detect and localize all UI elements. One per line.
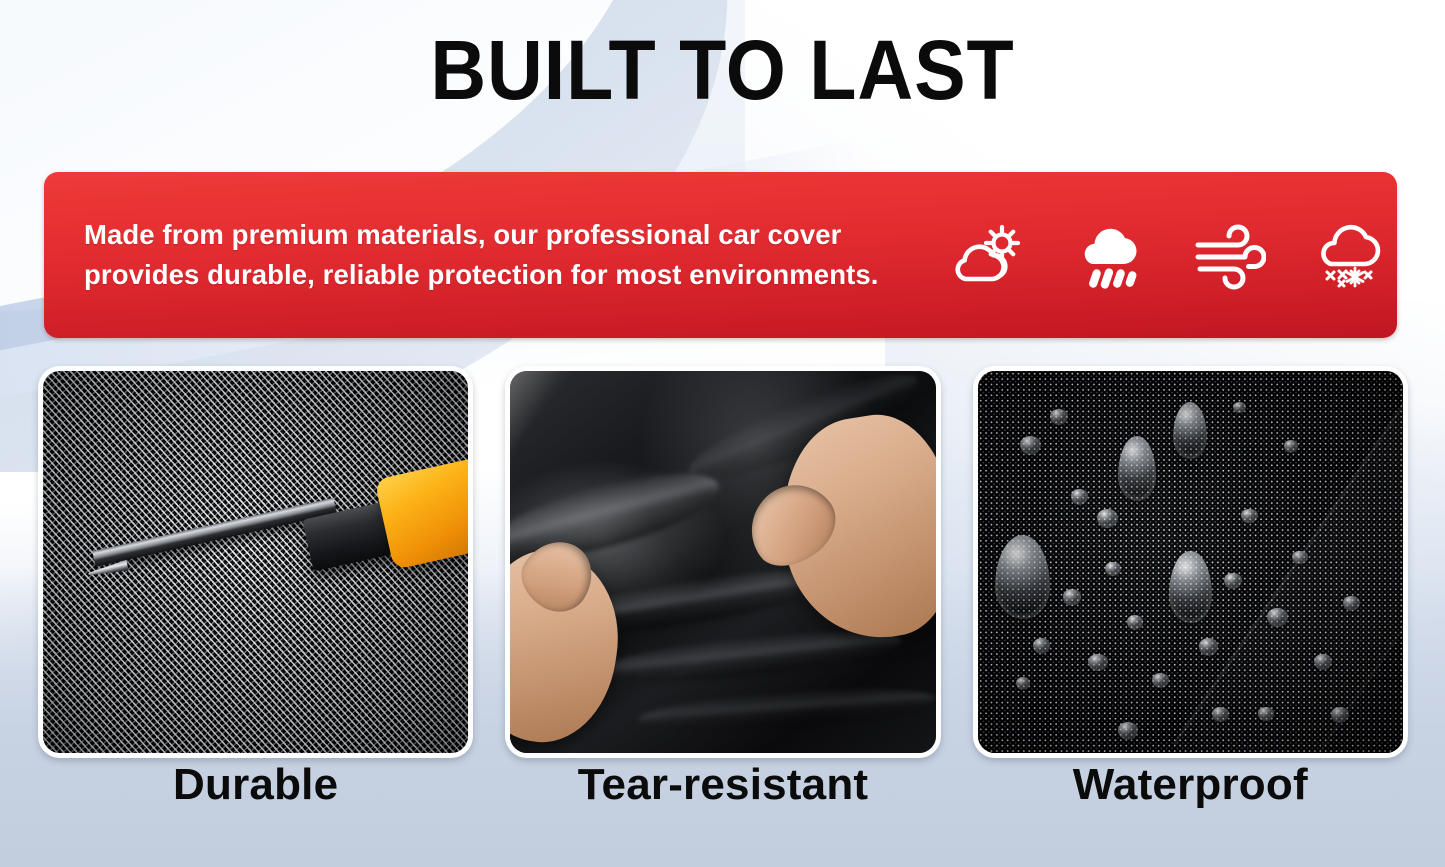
hands-stretching-black-sheet-photo (510, 371, 935, 753)
feature-caption-row: Durable Tear-resistant Waterproof (38, 762, 1408, 808)
screwdriver-on-woven-fabric-photo (43, 371, 468, 753)
rain-cloud-icon (1070, 219, 1146, 291)
weather-icon-group (950, 219, 1386, 291)
sun-cloud-icon (950, 219, 1026, 291)
infographic-root: BUILT TO LAST Made from premium material… (0, 0, 1445, 867)
wind-icon (1190, 219, 1266, 291)
caption-durable: Durable (38, 762, 473, 808)
feature-card-row (38, 366, 1408, 758)
photo-vignette (978, 371, 1403, 753)
promo-banner: Made from premium materials, our profess… (44, 172, 1397, 338)
water-beads-on-fabric-photo (978, 371, 1403, 753)
caption-tear-resistant: Tear-resistant (505, 762, 940, 808)
page-title: BUILT TO LAST (58, 28, 1387, 112)
caption-waterproof: Waterproof (973, 762, 1408, 808)
feature-card-durable (38, 366, 473, 758)
feature-card-tear-resistant (505, 366, 940, 758)
snow-cloud-icon (1310, 219, 1386, 291)
feature-card-waterproof (973, 366, 1408, 758)
promo-banner-text: Made from premium materials, our profess… (44, 215, 944, 295)
